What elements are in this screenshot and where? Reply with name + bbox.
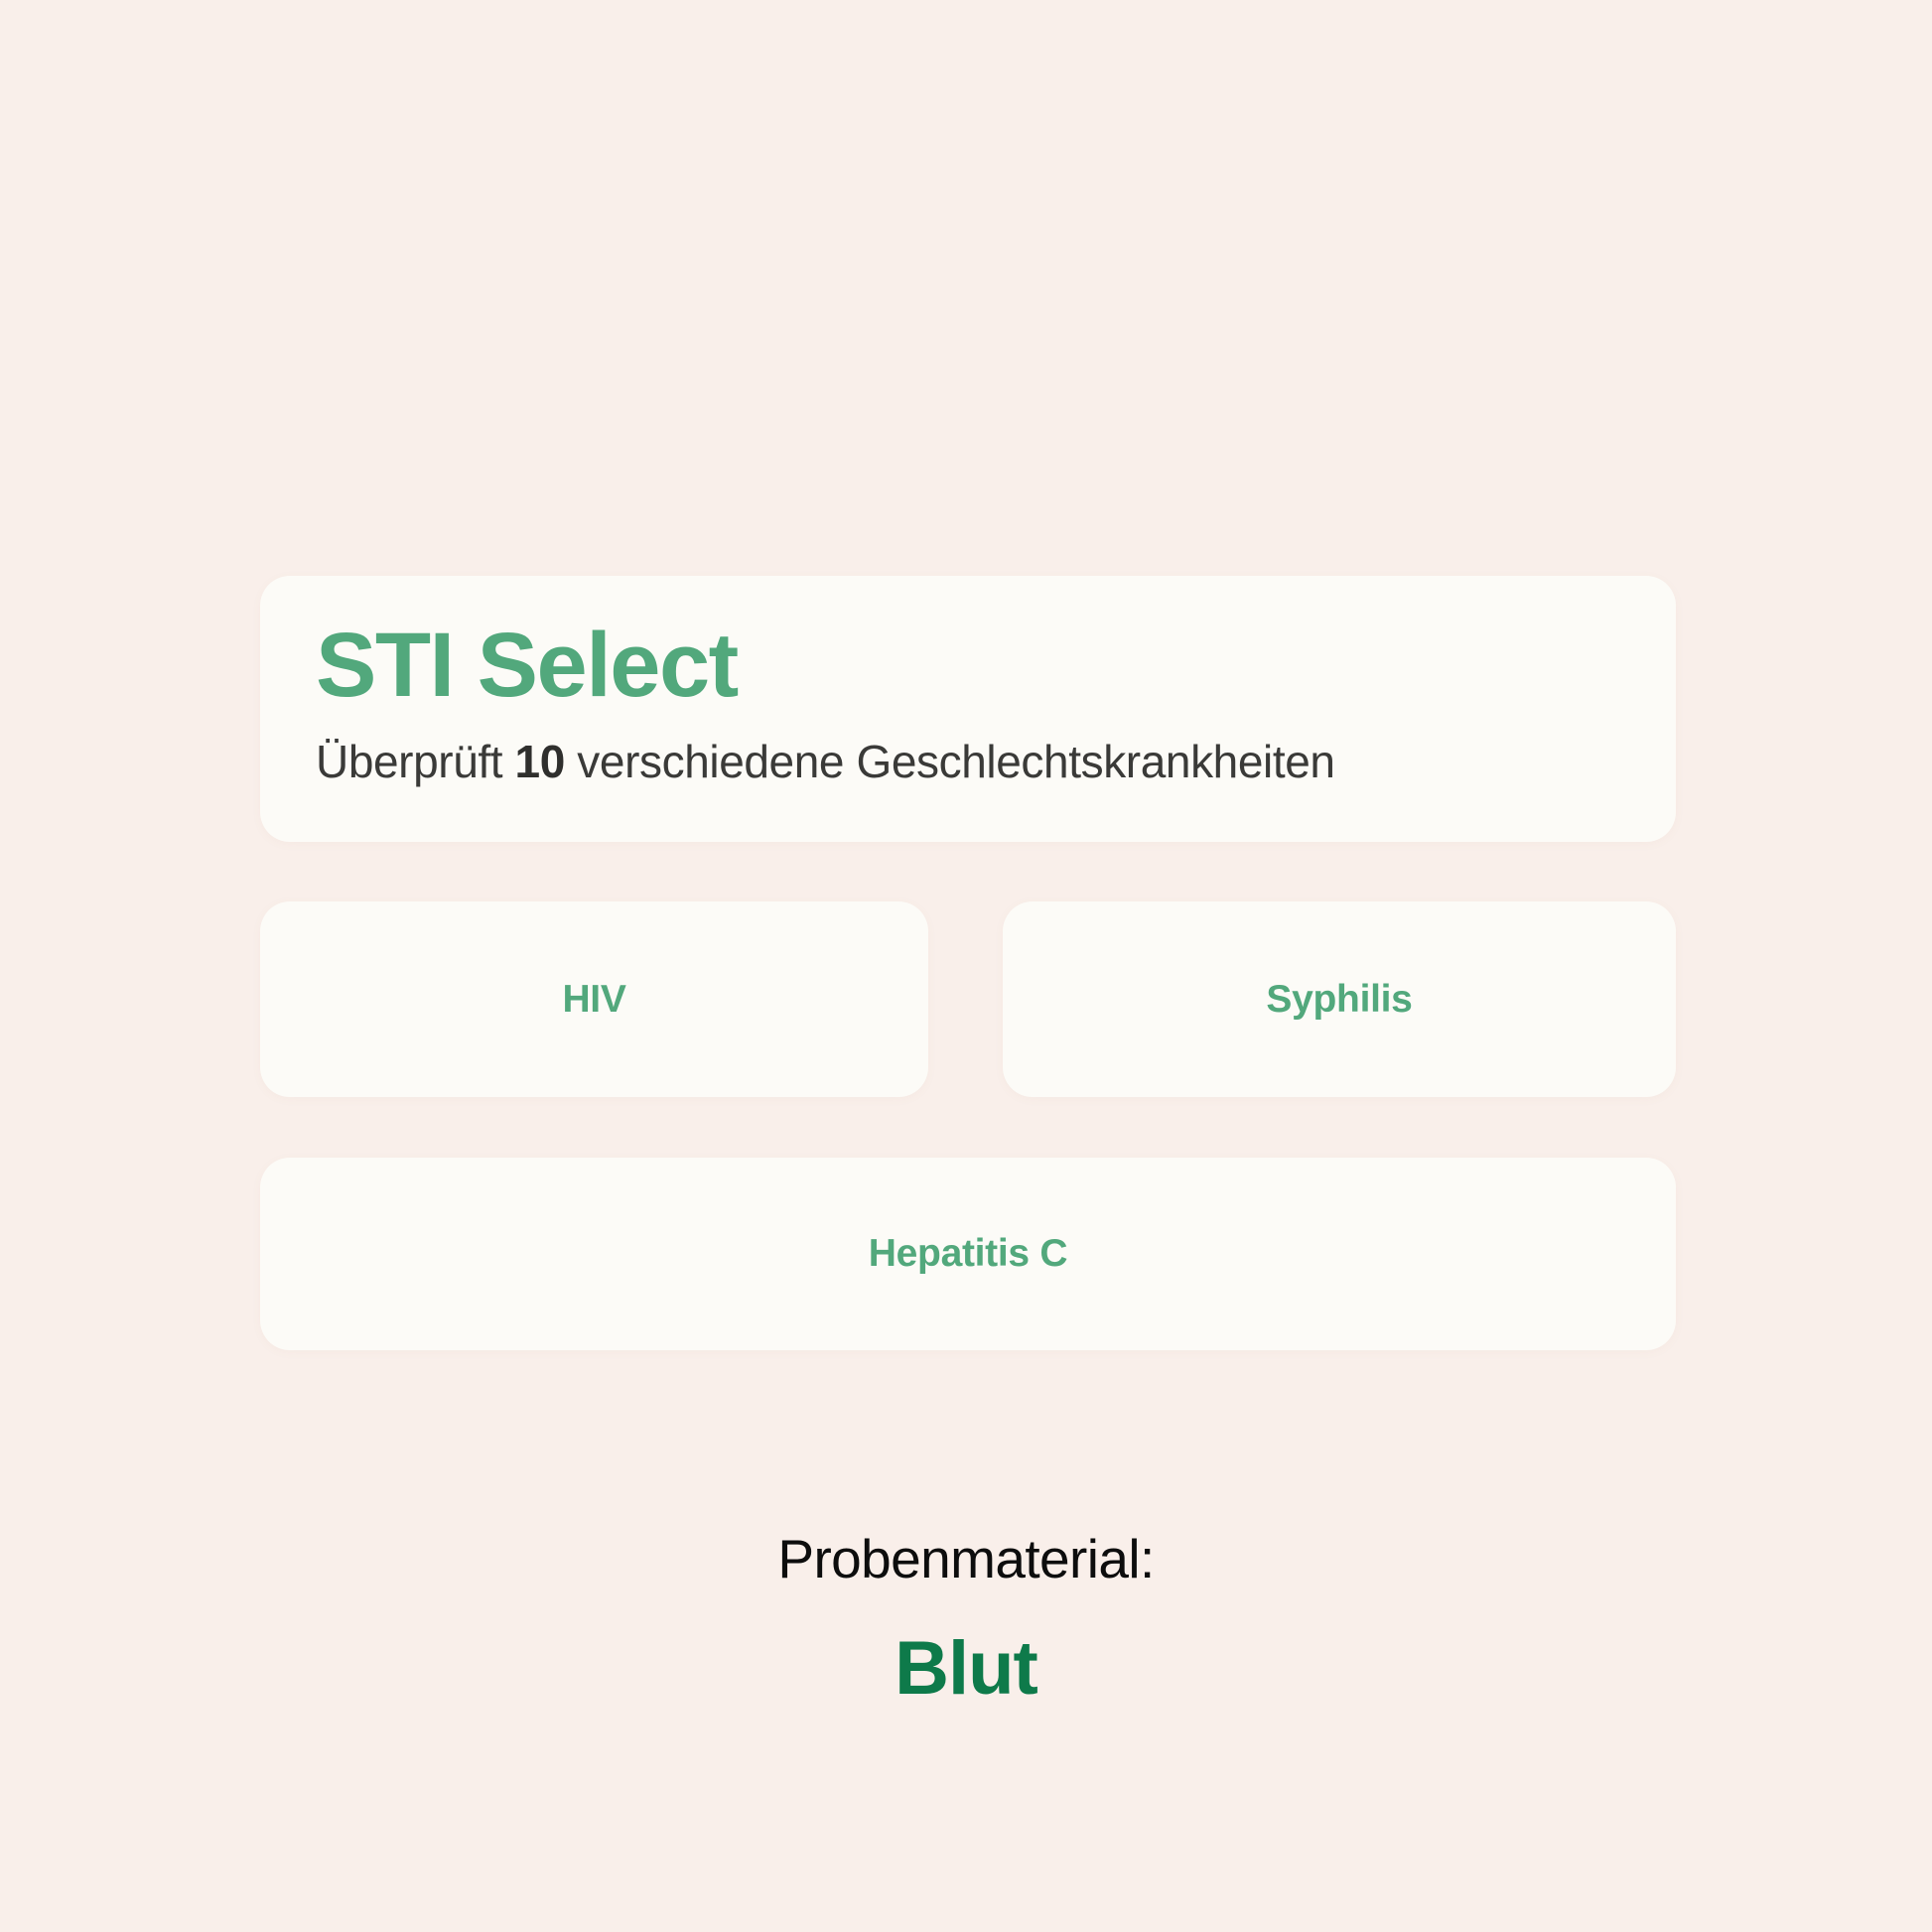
- test-card-label: Hepatitis C: [869, 1232, 1067, 1276]
- subtitle-suffix: verschiedene Geschlechtskrankheiten: [565, 736, 1335, 787]
- subtitle-count: 10: [515, 736, 565, 787]
- sample-material-label: Probenmaterial:: [0, 1529, 1932, 1589]
- product-header-card: STI Select Überprüft 10 verschiedene Ges…: [260, 576, 1676, 842]
- sample-material-block: Probenmaterial: Blut: [0, 1529, 1932, 1710]
- test-card-hiv[interactable]: HIV: [260, 901, 928, 1097]
- test-card-syphilis[interactable]: Syphilis: [1003, 901, 1676, 1097]
- test-card-hepatitis-c[interactable]: Hepatitis C: [260, 1158, 1676, 1350]
- sample-material-value: Blut: [0, 1627, 1932, 1711]
- product-subtitle: Überprüft 10 verschiedene Geschlechtskra…: [316, 737, 1620, 787]
- product-card-canvas: STI Select Überprüft 10 verschiedene Ges…: [0, 0, 1932, 1932]
- page-title: STI Select: [316, 620, 1620, 711]
- subtitle-prefix: Überprüft: [316, 736, 515, 787]
- test-card-label: Syphilis: [1266, 978, 1412, 1022]
- test-card-label: HIV: [562, 978, 625, 1022]
